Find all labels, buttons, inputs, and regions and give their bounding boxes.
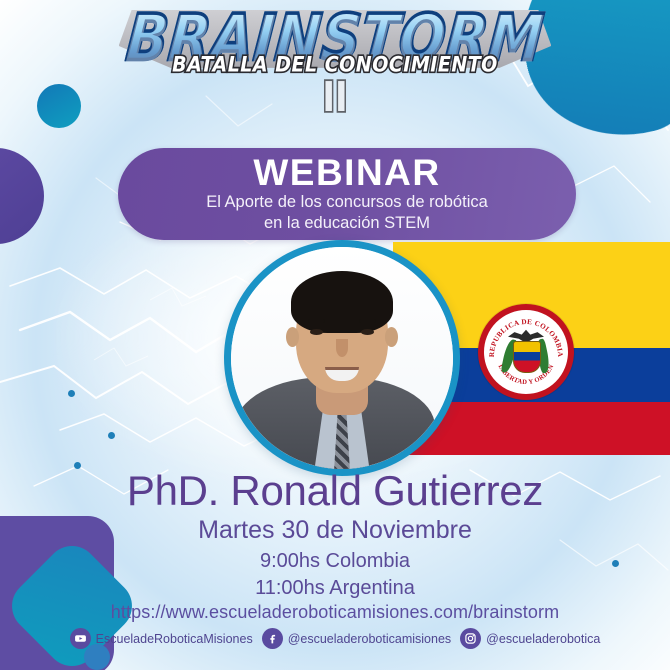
social-item-instagram[interactable]: @escueladerobotica [460, 628, 600, 649]
social-item-youtube[interactable]: EscueladeRoboticaMisiones [70, 628, 253, 649]
portrait-brow-right [359, 319, 376, 323]
youtube-icon[interactable] [70, 628, 91, 649]
banner-subtitle-line-1: El Aporte de los concursos de robótica [206, 192, 488, 213]
portrait-ear-right [385, 327, 398, 347]
portrait-ear-left [286, 327, 299, 347]
decorative-dot [108, 432, 115, 439]
social-bar: EscueladeRoboticaMisiones @escueladerobo… [0, 628, 670, 649]
facebook-icon[interactable] [262, 628, 283, 649]
registration-url[interactable]: https://www.escueladeroboticamisiones.co… [0, 600, 670, 625]
event-time-argentina: 11:00hs Argentina [0, 578, 670, 598]
colombia-coat-of-arms: REPUBLICA DE COLOMBIA LIBERTAD Y ORDEN [478, 304, 574, 400]
portrait-hair [291, 271, 393, 333]
banner-subtitle-line-2: en la educación STEM [206, 213, 488, 234]
portrait-eye-right [361, 329, 374, 335]
decorative-dot [74, 462, 81, 469]
social-handle-youtube[interactable]: EscueladeRoboticaMisiones [96, 632, 253, 646]
decorative-dot [68, 390, 75, 397]
portrait-nose [336, 339, 348, 357]
webinar-banner: WEBINAR El Aporte de los concursos de ro… [118, 148, 576, 240]
speaker-portrait [231, 247, 453, 469]
banner-subtitle: El Aporte de los concursos de robótica e… [206, 192, 488, 234]
social-handle-instagram[interactable]: @escueladerobotica [486, 632, 600, 646]
coat-of-arms-emblem [506, 329, 546, 375]
social-item-facebook[interactable]: @escueladeroboticamisiones [262, 628, 451, 649]
portrait-eye-left [310, 329, 323, 335]
instagram-icon[interactable] [460, 628, 481, 649]
event-time-colombia: 9:00hs Colombia [0, 551, 670, 571]
banner-title: WEBINAR [253, 154, 440, 191]
webinar-poster: BRAINSTORM BATALLA DEL CONOCIMIENTO II W… [0, 0, 670, 670]
portrait-brow-left [308, 319, 325, 323]
speaker-name: PhD. Ronald Gutierrez [0, 470, 670, 512]
event-date: Martes 30 de Noviembre [0, 518, 670, 543]
speaker-photo [224, 240, 460, 476]
shield-icon [513, 341, 541, 373]
decorative-circle-teal [37, 84, 81, 128]
social-handle-facebook[interactable]: @escueladeroboticamisiones [288, 632, 451, 646]
